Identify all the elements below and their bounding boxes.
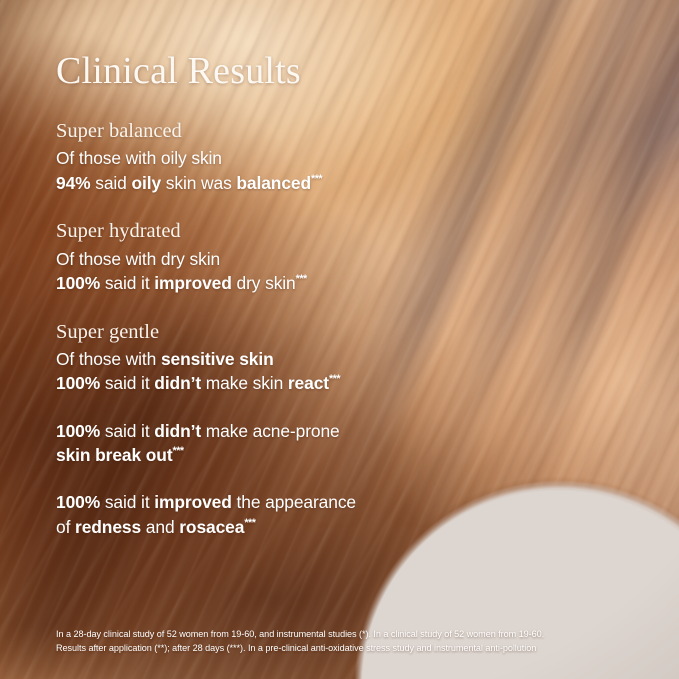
claim-heading: Super hydrated	[56, 218, 496, 245]
footnote-line-1: In a 28-day clinical study of 52 women f…	[56, 628, 636, 642]
footnote-marker: ***	[296, 273, 307, 285]
footnote-marker: ***	[173, 446, 184, 458]
claim-text: make acne-prone	[201, 421, 340, 441]
claim-text: said it	[100, 492, 154, 512]
claim-text: said it	[100, 373, 154, 393]
claim-line: of redness and rosacea***	[56, 515, 496, 540]
claim-text: Of those with oily skin	[56, 148, 222, 168]
claim-block: 100% said it didn’t make acne-proneskin …	[56, 419, 496, 468]
claim-emphasis: 100%	[56, 373, 100, 393]
claim-emphasis: oily	[131, 173, 161, 193]
claim-line: Of those with sensitive skin	[56, 347, 496, 372]
claim-text: Of those with dry skin	[56, 249, 220, 269]
claim-block: Super gentleOf those with sensitive skin…	[56, 319, 496, 396]
claim-emphasis: skin break out	[56, 445, 173, 465]
claim-emphasis: 100%	[56, 492, 100, 512]
claim-emphasis: balanced	[236, 173, 311, 193]
claim-line: 100% said it didn’t make acne-prone	[56, 419, 496, 444]
claim-text: of	[56, 517, 75, 537]
claim-emphasis: redness	[75, 517, 141, 537]
claim-emphasis: improved	[154, 273, 231, 293]
claim-line: Of those with dry skin	[56, 247, 496, 272]
claim-text: dry skin	[232, 273, 296, 293]
claim-text: said	[91, 173, 132, 193]
claim-text: make skin	[201, 373, 288, 393]
claims-list: Super balancedOf those with oily skin94%…	[56, 118, 496, 561]
claim-heading: Super balanced	[56, 118, 496, 145]
page-title: Clinical Results	[56, 52, 301, 90]
claim-line: Of those with oily skin	[56, 146, 496, 171]
claim-emphasis: 94%	[56, 173, 91, 193]
footnote-line-2: Results after application (**); after 28…	[56, 642, 636, 656]
footnote-marker: ***	[311, 173, 322, 185]
claim-emphasis: 100%	[56, 273, 100, 293]
claim-text: said it	[100, 421, 154, 441]
footnote-marker: ***	[329, 374, 340, 386]
claim-text: said it	[100, 273, 154, 293]
claim-emphasis: sensitive skin	[161, 349, 274, 369]
claim-emphasis: react	[288, 373, 329, 393]
claim-line: skin break out***	[56, 443, 496, 468]
claim-emphasis: didn’t	[154, 421, 201, 441]
footnote: In a 28-day clinical study of 52 women f…	[56, 628, 636, 656]
claim-text: and	[141, 517, 179, 537]
claim-block: Super hydratedOf those with dry skin100%…	[56, 218, 496, 295]
claim-text: the appearance	[232, 492, 356, 512]
claim-block: Super balancedOf those with oily skin94%…	[56, 118, 496, 195]
claim-line: 100% said it improved the appearance	[56, 490, 496, 515]
claim-heading: Super gentle	[56, 319, 496, 346]
claim-text: skin was	[161, 173, 236, 193]
claim-emphasis: didn’t	[154, 373, 201, 393]
claim-emphasis: 100%	[56, 421, 100, 441]
claim-line: 94% said oily skin was balanced***	[56, 171, 496, 196]
content-column: Clinical Results Super balancedOf those …	[56, 0, 679, 679]
claim-line: 100% said it didn’t make skin react***	[56, 371, 496, 396]
claim-text: Of those with	[56, 349, 161, 369]
claim-emphasis: improved	[154, 492, 231, 512]
claim-emphasis: rosacea	[179, 517, 244, 537]
clinical-results-panel: Clinical Results Super balancedOf those …	[0, 0, 679, 679]
claim-block: 100% said it improved the appearanceof r…	[56, 490, 496, 539]
claim-line: 100% said it improved dry skin***	[56, 271, 496, 296]
footnote-marker: ***	[244, 517, 255, 529]
